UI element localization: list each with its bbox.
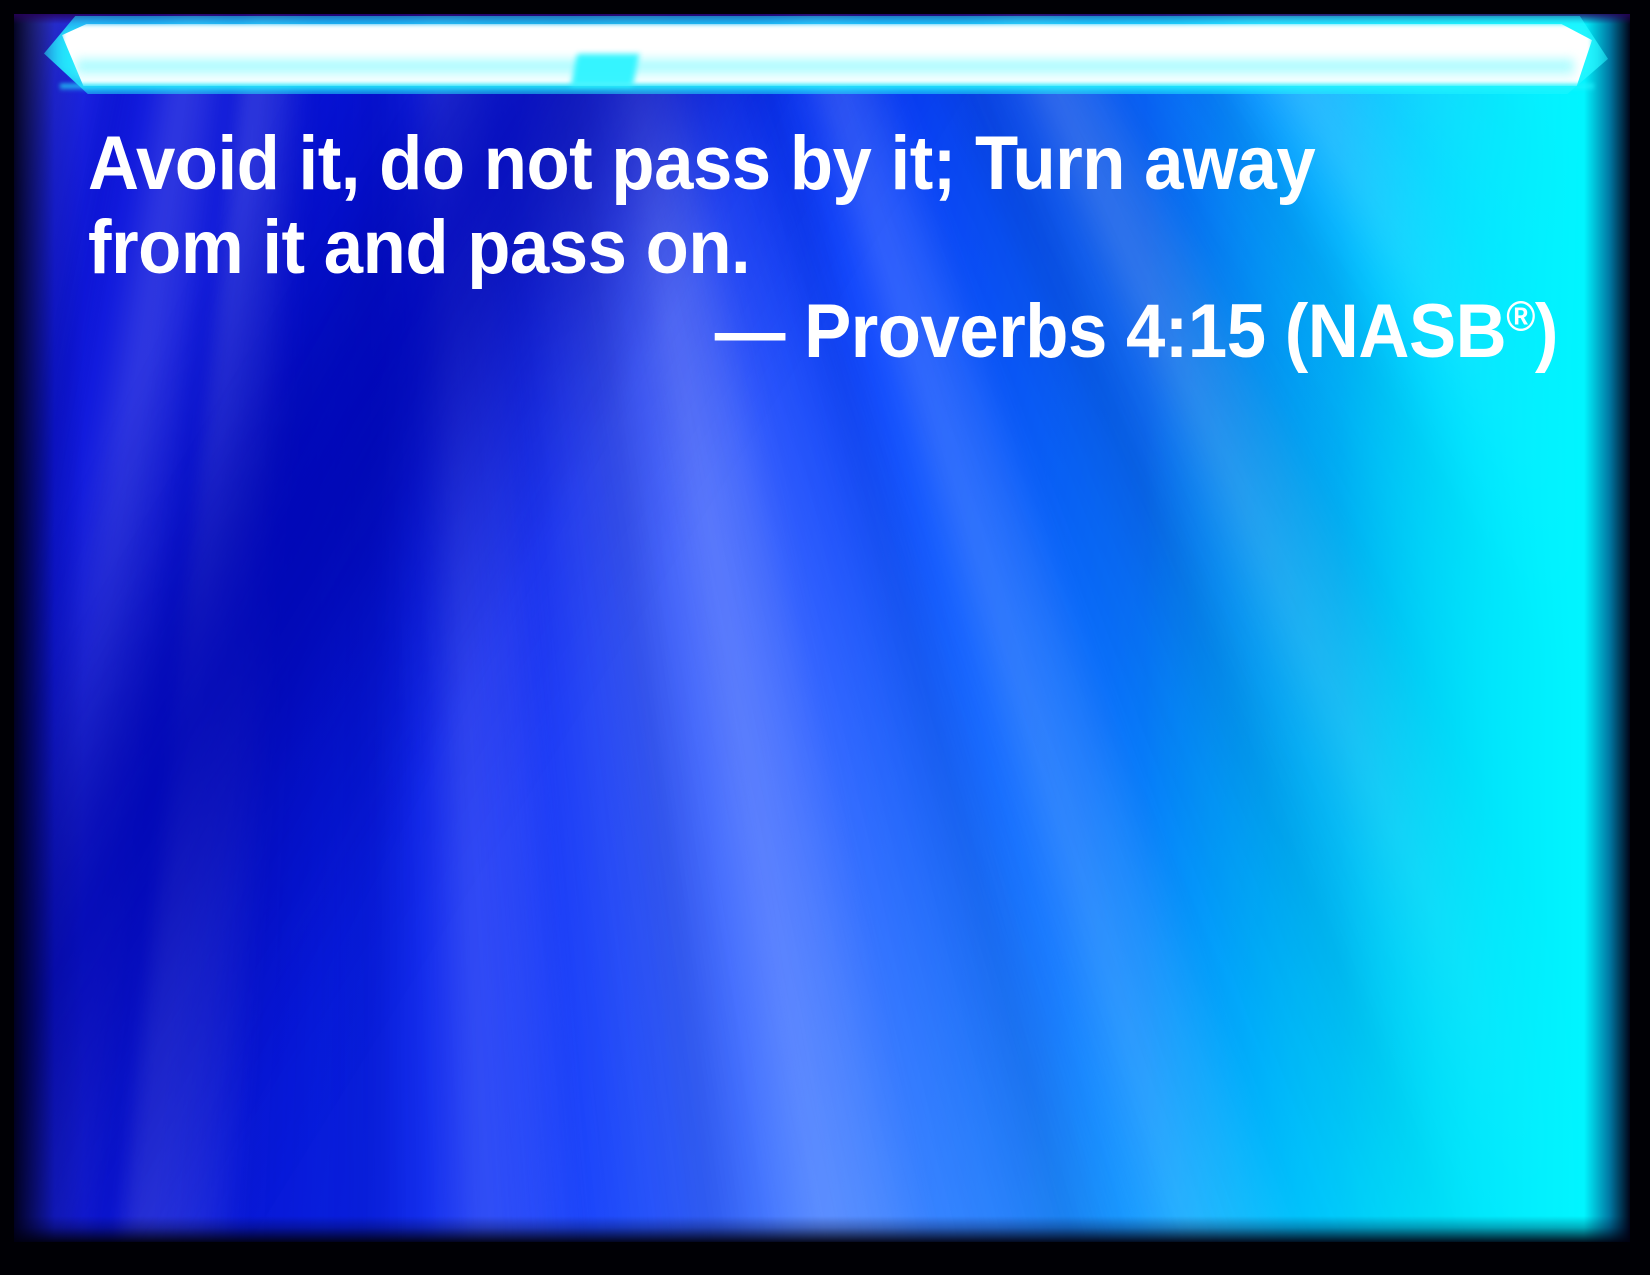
attribution-em-dash: —: [715, 289, 785, 374]
attribution-close-paren: ): [1535, 289, 1558, 374]
verse-attribution: — Proverbs 4:15 (NASB®): [191, 290, 1558, 374]
scripture-slide: Avoid it, do not pass by it; Turn away f…: [0, 0, 1650, 1275]
attribution-reference: Proverbs 4:15 (NASB: [785, 289, 1506, 374]
verse-text: Avoid it, do not pass by it; Turn away f…: [88, 122, 1409, 290]
registered-trademark-icon: ®: [1506, 293, 1535, 341]
text-layer: Avoid it, do not pass by it; Turn away f…: [0, 0, 1650, 1275]
